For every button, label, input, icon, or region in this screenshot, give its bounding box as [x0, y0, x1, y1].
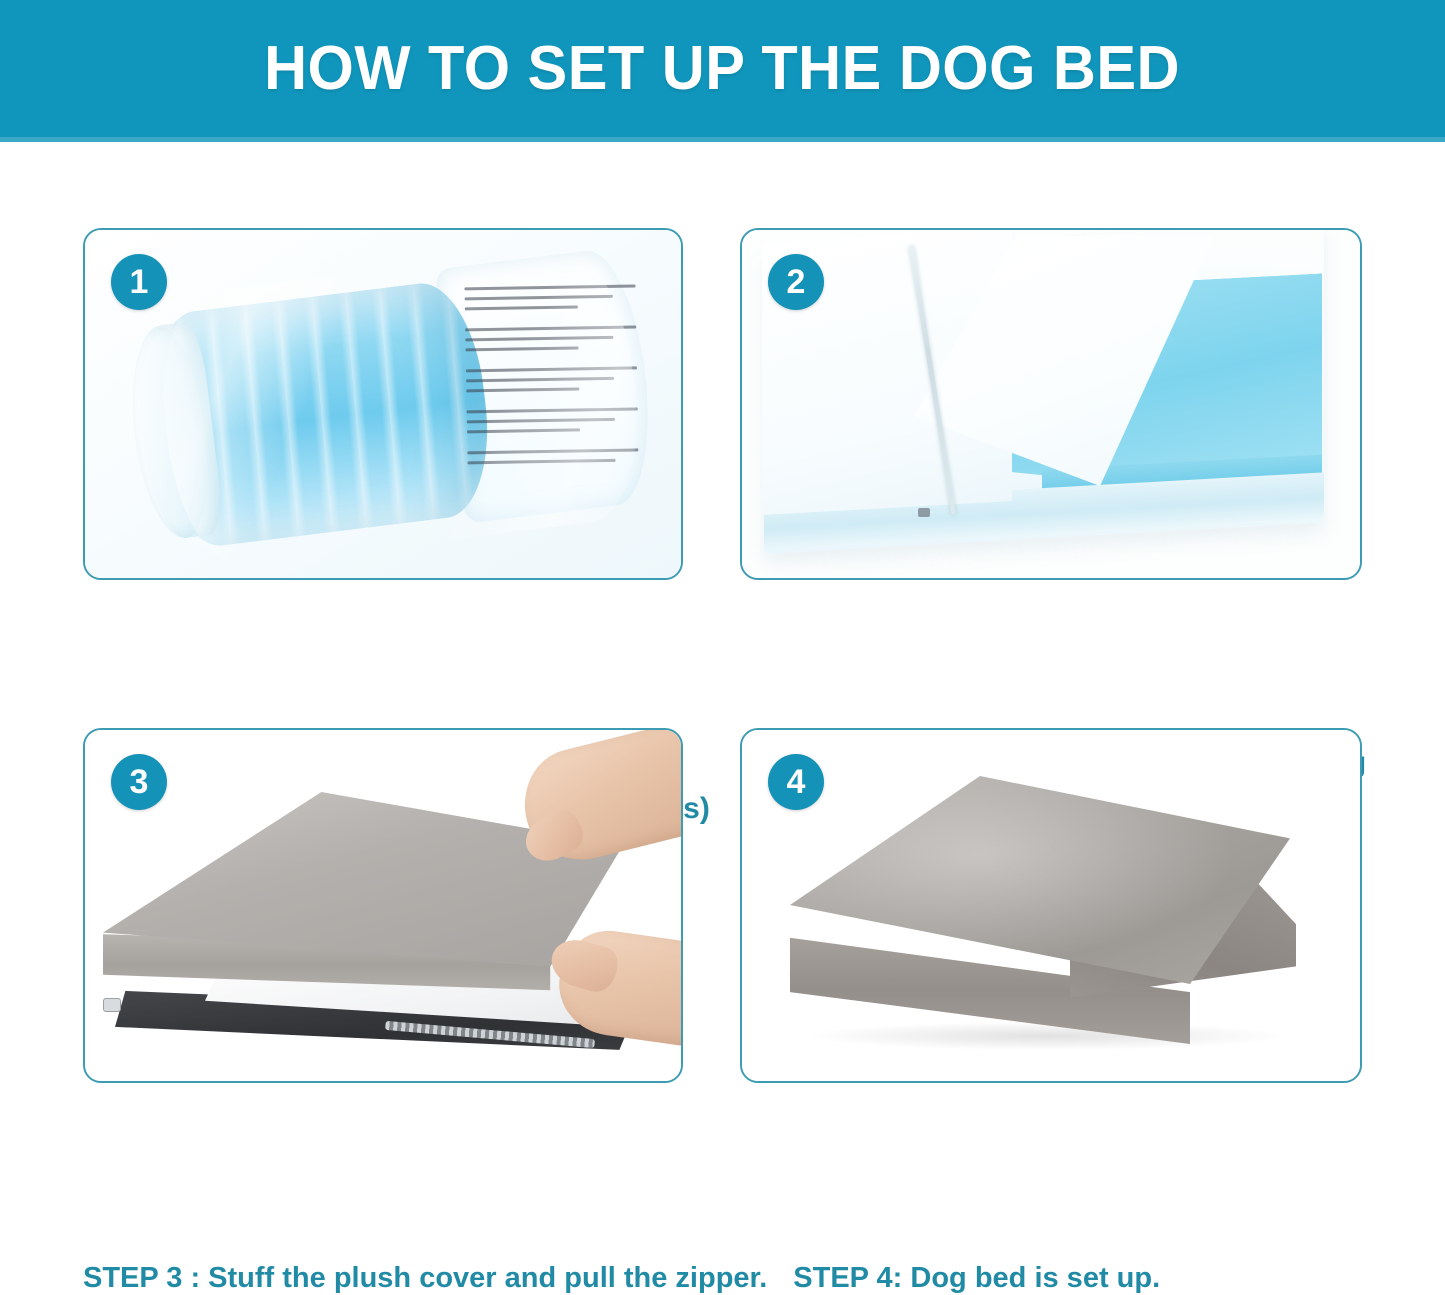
step-3-caption: STEP 3 : Stuff the plush cover and pull …	[83, 1262, 767, 1294]
finished-bed-illustration	[742, 730, 1360, 1081]
step-1-panel: 1	[83, 228, 683, 580]
header-banner: HOW TO SET UP THE DOG BED	[0, 0, 1445, 142]
bed-shadow	[812, 1022, 1282, 1050]
step-4-panel: 4	[740, 728, 1362, 1083]
step-4-number: 4	[787, 763, 806, 802]
vacuum-bag-roll	[140, 242, 639, 567]
page-title: HOW TO SET UP THE DOG BED	[265, 38, 1181, 100]
step-2-image	[742, 230, 1360, 578]
bottom-captions: STEP 3 : Stuff the plush cover and pull …	[83, 1262, 1423, 1295]
step-4-badge: 4	[768, 754, 824, 810]
step-1-image	[85, 230, 681, 578]
step-3-number: 3	[130, 763, 149, 802]
step-1-badge: 1	[111, 254, 167, 310]
step-4-caption: STEP 4: Dog bed is set up.	[793, 1262, 1160, 1294]
step-2-badge: 2	[768, 254, 824, 310]
step-4-image	[742, 730, 1360, 1081]
step-3-panel: 3	[83, 728, 683, 1083]
step-2-number: 2	[787, 263, 806, 302]
plush-cover-illustration	[85, 730, 681, 1081]
step-3-badge: 3	[111, 754, 167, 810]
warning-label-text	[464, 284, 644, 493]
step-1-number: 1	[130, 263, 149, 302]
cover-zipper-pull-icon	[103, 998, 121, 1012]
steps-grid: 1 2 STEP 1 : Remove the compress bag, le…	[0, 142, 1445, 1172]
compressed-roll-illustration	[85, 230, 681, 578]
step-2-panel: 2	[740, 228, 1362, 580]
step-3-image	[85, 730, 681, 1081]
zipper-pull-icon	[918, 508, 930, 517]
gel-foam-illustration	[742, 230, 1360, 578]
